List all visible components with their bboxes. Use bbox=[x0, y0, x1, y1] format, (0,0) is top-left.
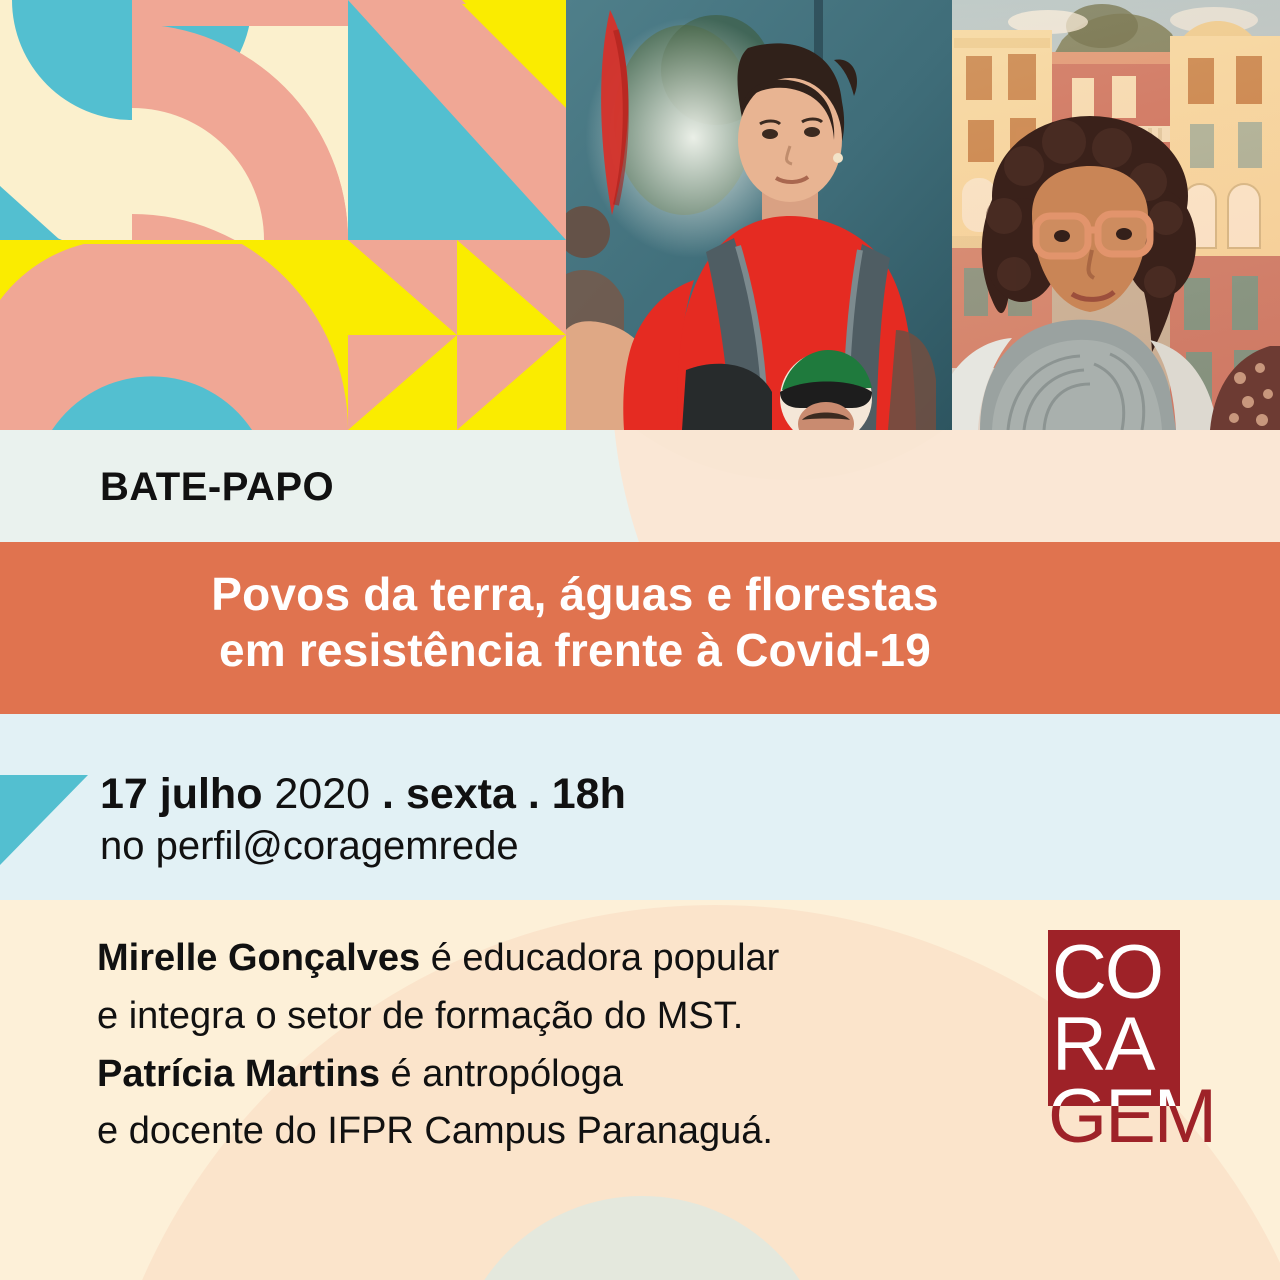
bio-text-1: é educadora popular bbox=[420, 937, 779, 979]
date-separator-1: . bbox=[370, 770, 406, 818]
photo-patricia-martins bbox=[952, 0, 1280, 430]
bio-line-3: Patrícia Martins é antropóloga bbox=[97, 1046, 779, 1104]
speaker-name-patricia: Patrícia Martins bbox=[97, 1053, 380, 1095]
bio-line-1: Mirelle Gonçalves é educadora popular bbox=[97, 930, 779, 988]
event-datetime-block: 17 julho 2020 . sexta . 18h no perfil@co… bbox=[100, 770, 626, 870]
title-line-1: Povos da terra, águas e florestas bbox=[211, 568, 939, 620]
bio-text-3: é antropóloga bbox=[380, 1053, 623, 1095]
page-title: Povos da terra, águas e florestas em res… bbox=[0, 566, 1150, 678]
bio-line-2: e integra o setor de formação do MST. bbox=[97, 988, 779, 1046]
event-date-line: 17 julho 2020 . sexta . 18h bbox=[100, 770, 626, 818]
speaker-bios: Mirelle Gonçalves é educadora popular e … bbox=[97, 930, 779, 1161]
kicker-label: BATE-PAPO bbox=[100, 465, 334, 510]
title-line-2: em resistência frente à Covid-19 bbox=[0, 622, 1150, 678]
bio-text-4: e docente do IFPR Campus Paranaguá. bbox=[97, 1110, 773, 1152]
geometric-pattern bbox=[0, 0, 566, 430]
photo-mirelle-goncalves bbox=[566, 0, 952, 430]
event-year: 2020 bbox=[274, 770, 370, 818]
poster-canvas: BATE-PAPO Povos da terra, águas e flores… bbox=[0, 0, 1280, 1280]
bio-text-2: e integra o setor de formação do MST. bbox=[97, 995, 743, 1037]
cyan-triangle-accent bbox=[0, 775, 88, 865]
coragem-logo: CO RA GEM GEM bbox=[1040, 930, 1240, 1160]
event-profile-handle: no perfil@coragemrede bbox=[100, 822, 626, 870]
event-time: 18h bbox=[552, 770, 626, 818]
speaker-name-mirelle: Mirelle Gonçalves bbox=[97, 937, 420, 979]
event-day-month: 17 julho bbox=[100, 770, 262, 818]
bio-line-4: e docente do IFPR Campus Paranaguá. bbox=[97, 1103, 779, 1161]
date-separator-2: . bbox=[516, 770, 552, 818]
event-weekday: sexta bbox=[406, 770, 516, 818]
